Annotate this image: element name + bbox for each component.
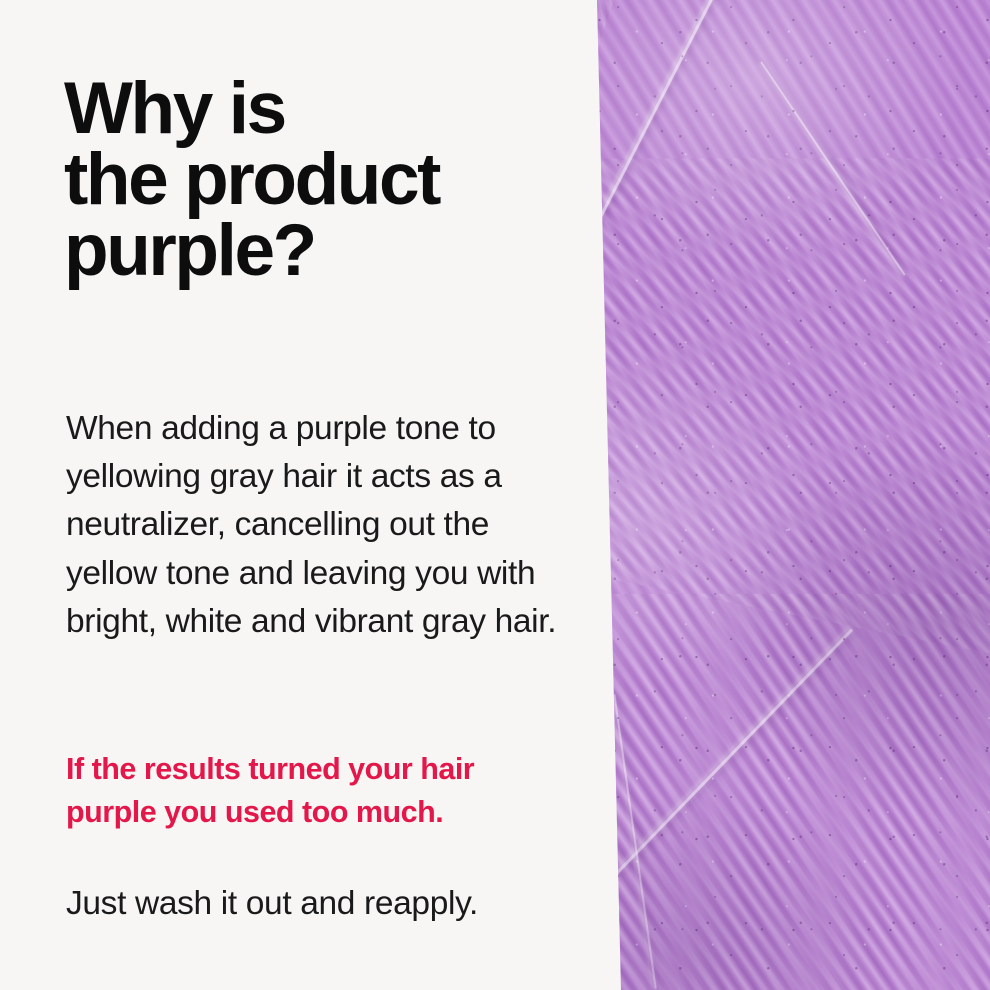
page-title: Why is the product purple? (64, 74, 564, 286)
warning-paragraph: If the results turned your hair purple y… (66, 748, 571, 835)
text-column: Why is the product purple? When adding a… (0, 0, 600, 990)
explanation-paragraph: When adding a purple tone to yellowing g… (66, 405, 578, 646)
closing-instruction: Just wash it out and reapply. (66, 880, 578, 928)
purple-product-infographic: Why is the product purple? When adding a… (0, 0, 990, 990)
